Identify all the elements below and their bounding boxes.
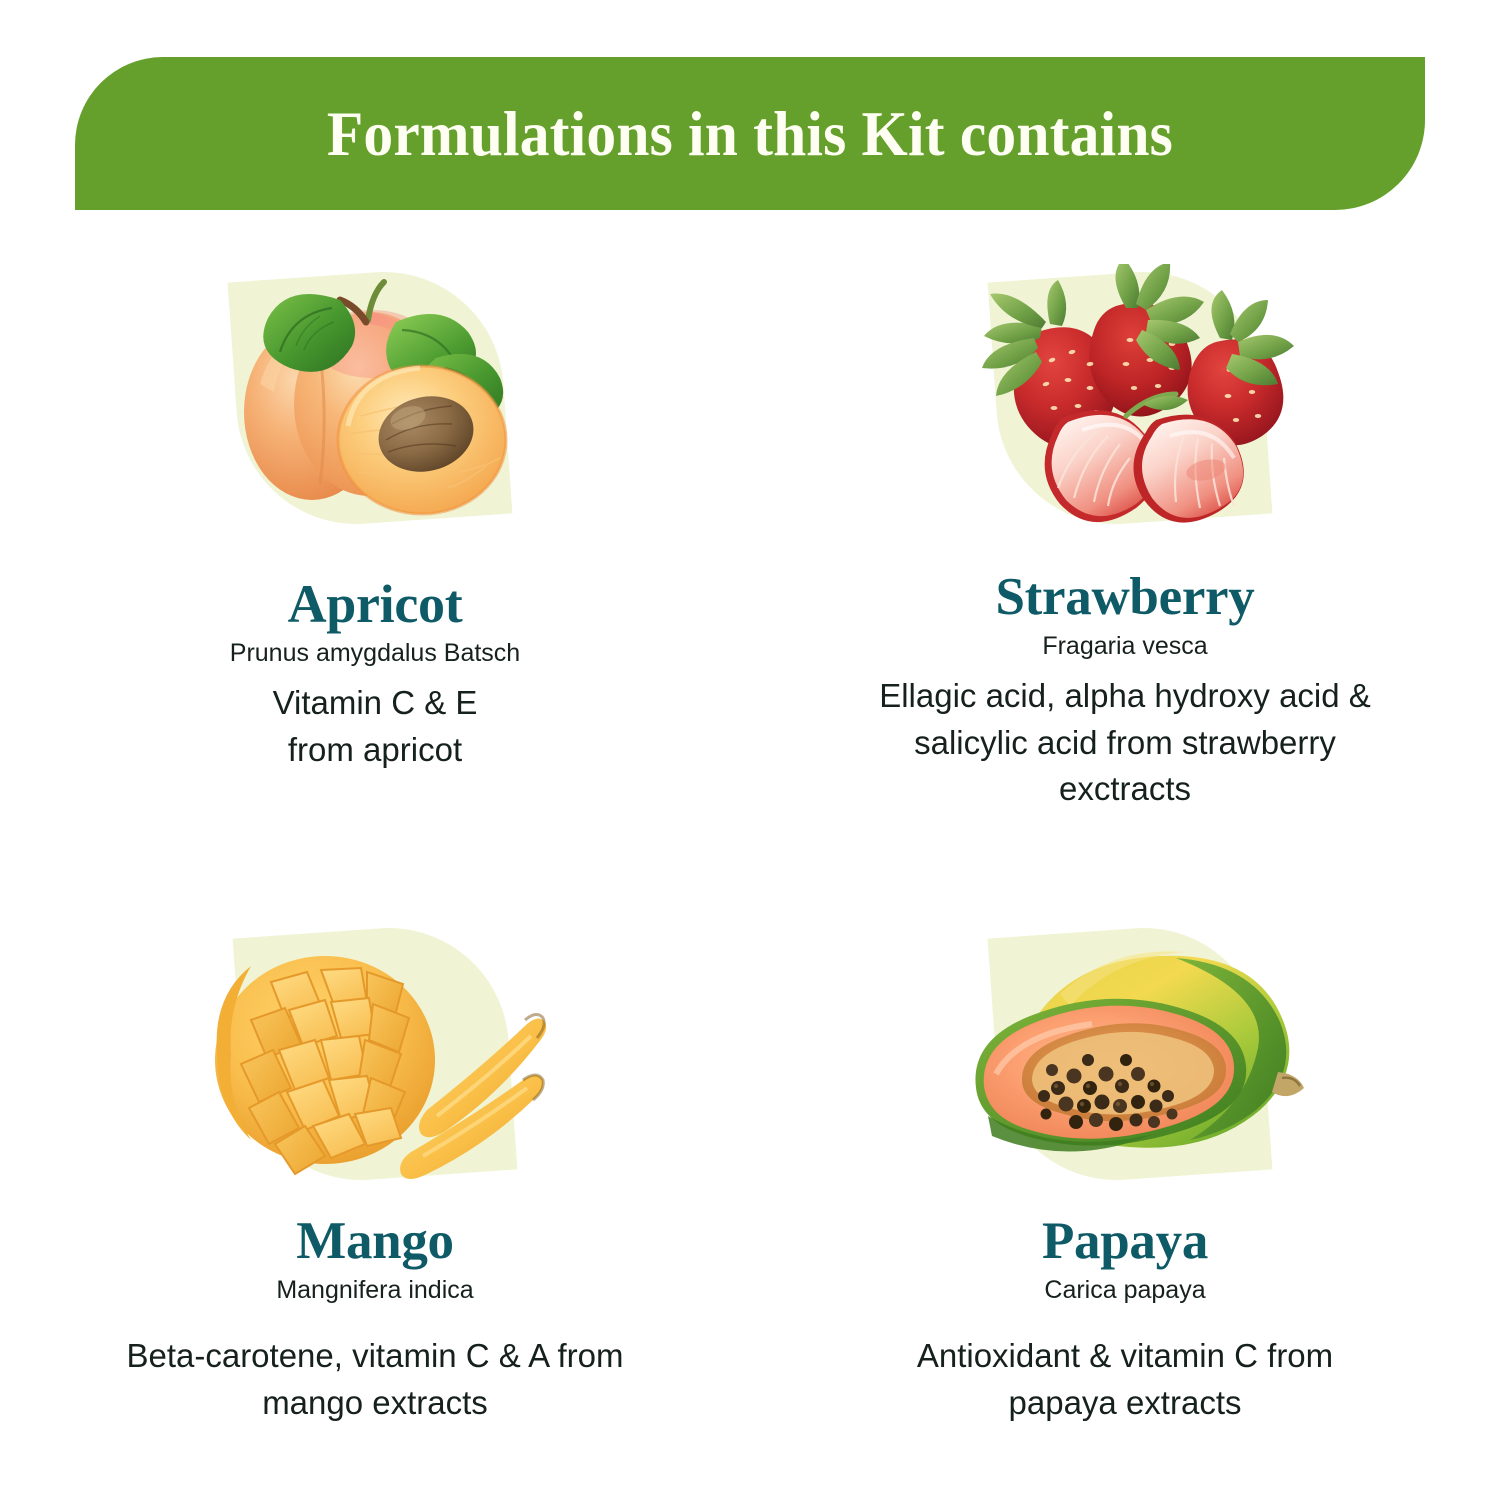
mango-text-block: Mango Mangnifera indica Beta-carotene, v…	[115, 1214, 635, 1426]
ingredient-latin-strawberry: Fragaria vesca	[1042, 631, 1207, 661]
strawberry-image-stage	[915, 248, 1345, 548]
ingredient-latin-apricot: Prunus amygdalus Batsch	[230, 638, 520, 668]
ingredient-card-apricot: Apricot Prunus amygdalus Batsch Vitamin …	[0, 248, 750, 904]
ingredient-latin-papaya: Carica papaya	[1044, 1275, 1205, 1305]
apricot-text-block: Apricot Prunus amygdalus Batsch Vitamin …	[230, 576, 520, 773]
ingredient-card-mango: Mango Mangnifera indica Beta-carotene, v…	[0, 904, 750, 1504]
mango-image-stage	[165, 904, 585, 1204]
papaya-image-stage	[930, 904, 1330, 1204]
papaya-text-block: Papaya Carica papaya Antioxidant & vitam…	[875, 1214, 1375, 1426]
ingredient-description-strawberry: Ellagic acid, alpha hydroxy acid & salic…	[865, 673, 1385, 814]
ingredient-description-papaya: Antioxidant & vitamin C from papaya extr…	[875, 1333, 1375, 1427]
header-banner: Formulations in this Kit contains	[75, 57, 1425, 210]
ingredient-description-apricot: Vitamin C & Efrom apricot	[273, 680, 478, 774]
apricot-illustration-icon	[200, 264, 540, 532]
strawberry-illustration-icon	[930, 264, 1330, 532]
ingredient-description-mango: Beta-carotene, vitamin C & A from mango …	[115, 1333, 635, 1427]
ingredient-grid: Apricot Prunus amygdalus Batsch Vitamin …	[0, 248, 1500, 1504]
ingredient-name-strawberry: Strawberry	[996, 570, 1255, 626]
mango-illustration-icon	[175, 920, 575, 1188]
ingredient-name-papaya: Papaya	[1042, 1214, 1208, 1270]
papaya-illustration-icon	[940, 920, 1320, 1188]
strawberry-text-block: Strawberry Fragaria vesca Ellagic acid, …	[865, 570, 1385, 813]
ingredient-latin-mango: Mangnifera indica	[276, 1275, 473, 1305]
ingredient-name-mango: Mango	[296, 1214, 454, 1270]
ingredient-card-papaya: Papaya Carica papaya Antioxidant & vitam…	[750, 904, 1500, 1504]
ingredient-card-strawberry: Strawberry Fragaria vesca Ellagic acid, …	[750, 248, 1500, 904]
apricot-image-stage	[190, 248, 550, 548]
ingredient-name-apricot: Apricot	[288, 576, 463, 633]
page-title: Formulations in this Kit contains	[327, 102, 1173, 166]
